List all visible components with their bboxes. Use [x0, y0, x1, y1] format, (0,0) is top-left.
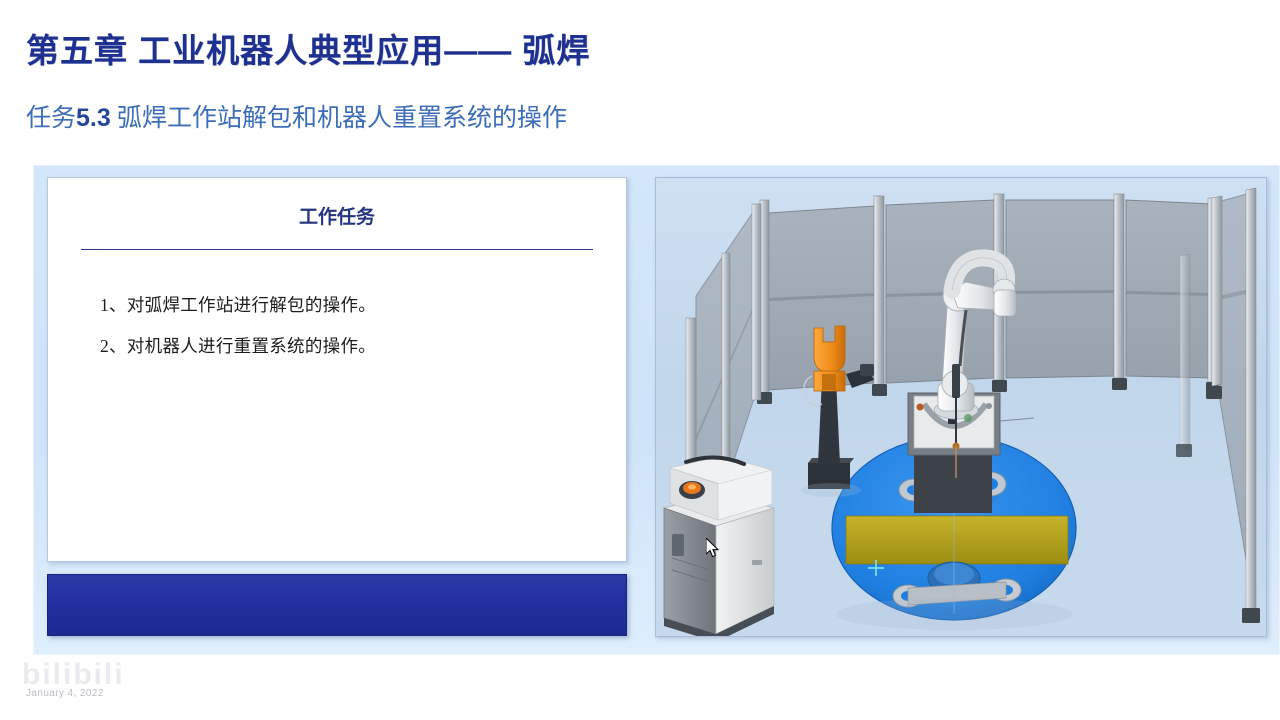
table-shadow: [836, 598, 1072, 630]
subtitle-prefix: 任务: [26, 105, 76, 132]
welding-fixture-plate: [846, 516, 1068, 564]
list-item: 2、对机器人进行重置系统的操作。: [100, 333, 626, 358]
page-subtitle: 任务5.3 弧焊工作站解包和机器人重置系统的操作: [26, 98, 567, 134]
watermark: bilibili: [22, 658, 312, 714]
task-card-heading: 工作任务: [48, 202, 626, 229]
cleaner-shadow: [801, 483, 861, 497]
task-card-divider: [81, 249, 593, 250]
workstation-3d-scene: [656, 178, 1267, 637]
welding-torch: [952, 364, 960, 398]
list-item: 1、对弧焊工作站进行解包的操作。: [100, 292, 626, 317]
emergency-stop-button[interactable]: [679, 481, 705, 499]
mouse-cursor: [706, 538, 720, 558]
subtitle-rest: 弧焊工作站解包和机器人重置系统的操作: [111, 105, 567, 132]
footer-accent-bar: [47, 574, 627, 636]
page-title: 第五章 工业机器人典型应用—— 弧焊: [26, 24, 590, 72]
simulation-viewport[interactable]: [655, 177, 1267, 637]
task-list: 1、对弧焊工作站进行解包的操作。 2、对机器人进行重置系统的操作。: [100, 292, 626, 358]
date-stamp: January 4, 2022: [26, 688, 104, 699]
task-card: 工作任务 1、对弧焊工作站进行解包的操作。 2、对机器人进行重置系统的操作。: [47, 177, 627, 562]
subtitle-task-number: 5.3: [76, 104, 111, 132]
bilibili-logo: bilibili: [22, 658, 125, 692]
